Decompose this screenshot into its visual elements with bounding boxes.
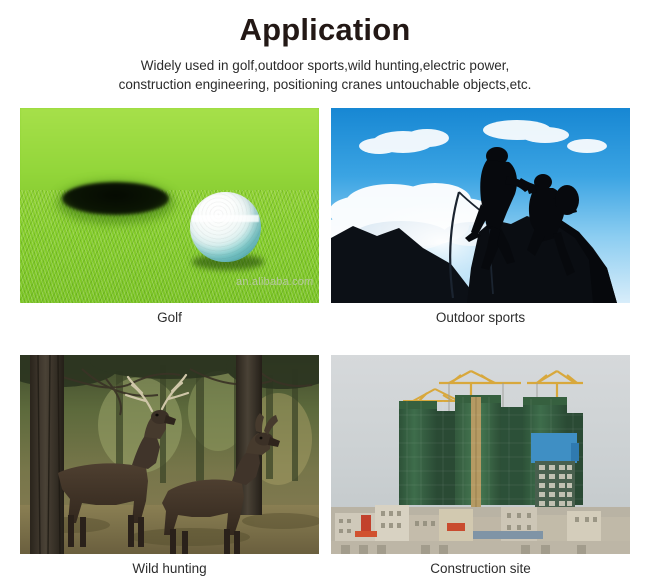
gallery-item-wild-hunting[interactable]: Wild hunting [20, 355, 319, 578]
blue-panel [531, 433, 577, 463]
construction-scene [331, 355, 630, 554]
wild-hunting-photo[interactable] [20, 355, 319, 554]
gallery-row-top: Golf [20, 108, 630, 327]
golf-turf-upper [20, 108, 319, 198]
deer-forest-scene [20, 355, 319, 554]
subtitle-line-2: construction engineering, positioning cr… [0, 75, 650, 94]
gallery-item-construction-site[interactable]: Construction site [331, 355, 630, 578]
caption-construction-site: Construction site [331, 554, 630, 578]
climbers-scene [331, 108, 630, 303]
subtitle-line-1: Widely used in golf,outdoor sports,wild … [0, 56, 650, 75]
gallery-row-bottom: Wild hunting [20, 355, 630, 578]
page-subtitle: Widely used in golf,outdoor sports,wild … [0, 56, 650, 94]
construction-site-photo[interactable] [331, 355, 630, 554]
caption-golf: Golf [20, 303, 319, 327]
application-slide: Application Widely used in golf,outdoor … [0, 0, 650, 561]
golf-ball-stripe [192, 215, 259, 222]
golf-photo[interactable] [20, 108, 319, 303]
header: Application Widely used in golf,outdoor … [0, 0, 650, 94]
caption-outdoor-sports: Outdoor sports [331, 303, 630, 327]
gallery-item-golf[interactable]: Golf [20, 108, 319, 327]
golf-ball [190, 192, 260, 262]
tower-left [399, 405, 437, 505]
golf-turf-lower [20, 190, 319, 303]
page-title: Application [0, 10, 650, 50]
golf-ball-dimples [190, 192, 260, 262]
blue-roof [473, 531, 543, 539]
application-gallery: Golf [20, 108, 630, 578]
gallery-item-outdoor-sports[interactable]: Outdoor sports [331, 108, 630, 327]
outdoor-sports-photo[interactable] [331, 108, 630, 303]
caption-wild-hunting: Wild hunting [20, 554, 319, 578]
